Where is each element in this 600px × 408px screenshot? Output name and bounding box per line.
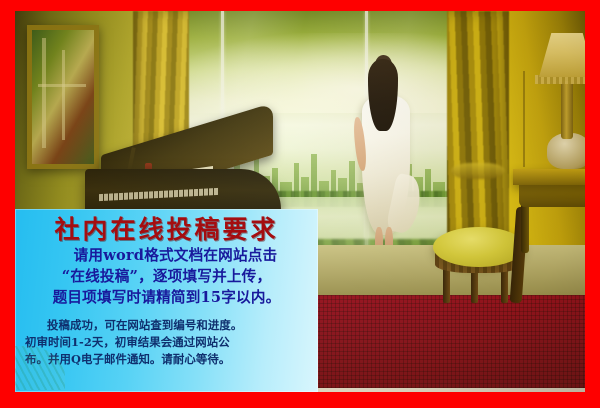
notice-note: 投稿成功，可在网站查到编号和进度。 初审时间1-2天，初审结果会通过网站公 布。… [25,317,308,369]
console-table-apron [519,183,585,207]
console-table-leg [521,205,529,253]
painting-stripe [62,50,65,140]
painting-stripe [42,38,46,148]
notice-title: 社内在线投稿要求 [15,216,318,243]
notice-note-line-1: 投稿成功，可在网站查到编号和进度。 [25,317,308,334]
yellow-stool-seat [433,227,525,267]
notice-body-line-3: 题目项填写时请精简到15字以内。 [23,288,310,309]
framed-painting [27,25,99,169]
stool-leg [443,269,450,303]
stool-leg [501,269,508,303]
stool-leg [471,269,478,303]
painting-stripe [38,84,86,87]
notice-body: 请用word格式文档在网站点击 “在线投稿”，逐项填写并上传， 题目项填写时请精… [23,246,310,309]
notice-body-line-2: “在线投稿”，逐项填写并上传， [23,267,310,288]
notice-note-line-3: 布。并用Q电子邮件通知。请耐心等待。 [25,351,308,368]
notice-body-line-1: 请用word格式文档在网站点击 [23,246,310,267]
console-table [513,169,585,185]
lamp-cord [523,71,525,167]
notice-panel: 社内在线投稿要求 请用word格式文档在网站点击 “在线投稿”，逐项填写并上传，… [15,209,318,392]
poster-image: 社内在线投稿要求 请用word格式文档在网站点击 “在线投稿”，逐项填写并上传，… [0,0,600,408]
notice-note-line-2: 初审时间1-2天，初审结果会通过网站公 [25,334,308,351]
curtain-tieback [451,163,505,179]
lamp-stem [561,81,573,139]
